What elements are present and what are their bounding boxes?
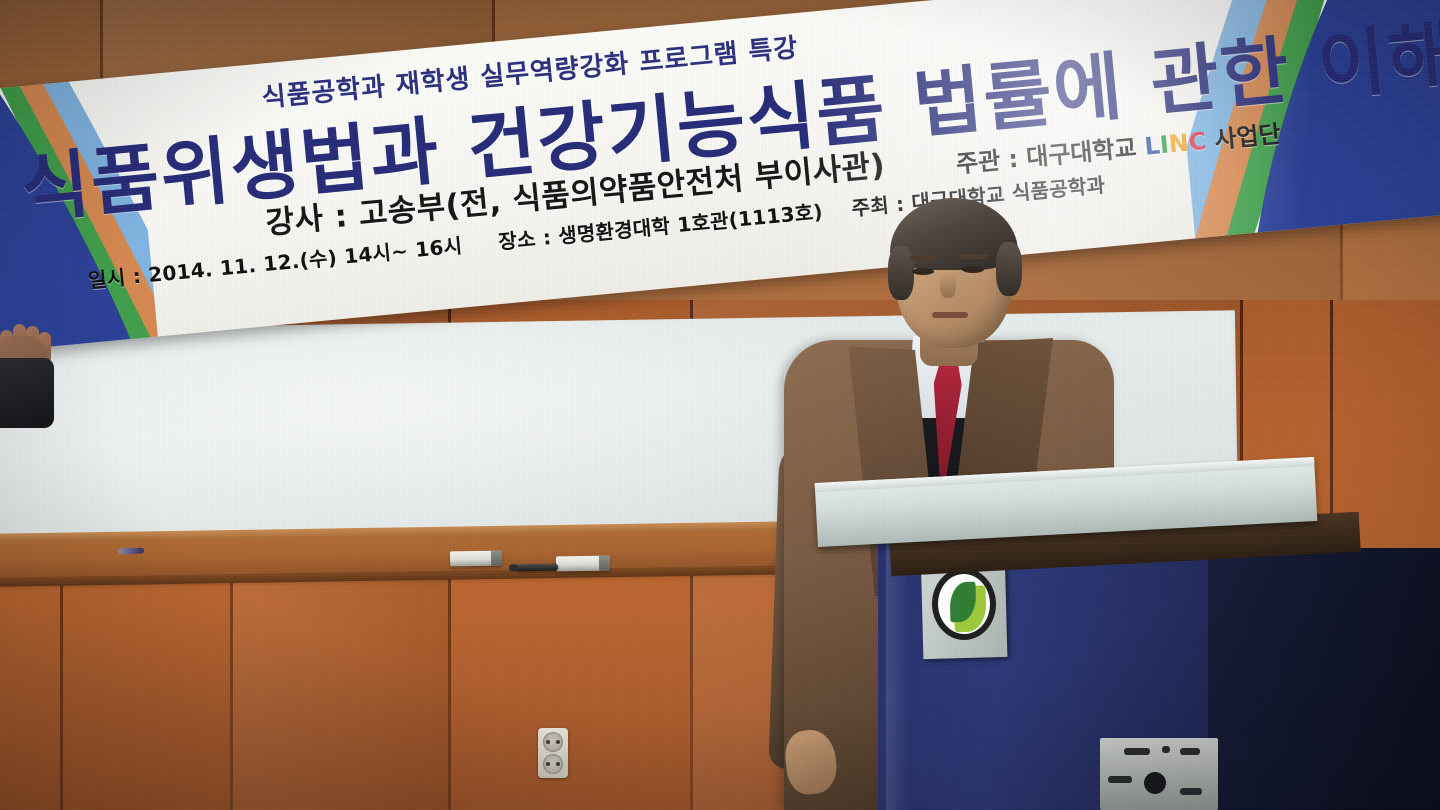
linc-logo: LINC	[1143, 127, 1207, 161]
mouth	[932, 312, 968, 318]
hair-side-left	[888, 246, 914, 300]
eyebrow-left	[910, 256, 938, 261]
podium-control-panel[interactable]	[1100, 738, 1218, 810]
marker-pen[interactable]	[118, 548, 144, 555]
linc-letter-n: N	[1167, 129, 1190, 159]
support-suffix: 사업단	[1213, 120, 1282, 154]
podium-side-panel	[1208, 548, 1440, 810]
lectern-podium	[878, 470, 1440, 810]
power-outlet	[538, 728, 568, 778]
eyebrow-right	[960, 254, 988, 259]
nose	[940, 272, 956, 298]
whiteboard-eraser[interactable]	[450, 551, 502, 567]
whiteboard-marker[interactable]	[516, 564, 558, 572]
eye-right	[962, 266, 984, 273]
sleeve	[0, 358, 54, 428]
hair-side-right	[996, 242, 1022, 296]
eye-left	[912, 268, 934, 275]
whiteboard-eraser[interactable]	[556, 556, 610, 572]
emblem-ring	[931, 567, 997, 641]
linc-letter-c: C	[1187, 127, 1207, 157]
photo-scene: 식품공학과 재학생 실무역량강화 프로그램 특강 식품위생법과 건강기능식품 법…	[0, 0, 1440, 810]
